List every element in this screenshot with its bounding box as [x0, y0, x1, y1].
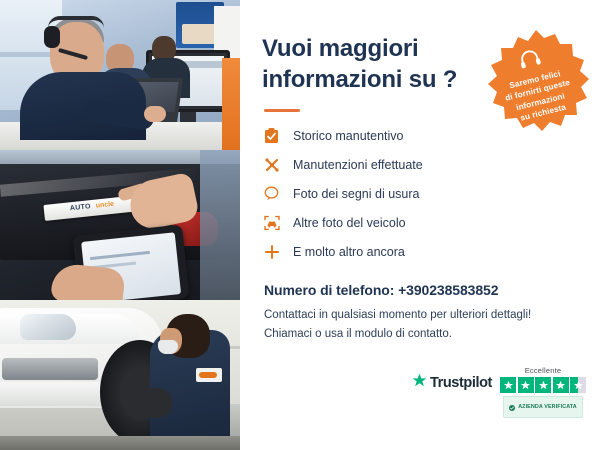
- photo-column: [0, 0, 240, 450]
- list-item: E molto altro ancora: [264, 239, 576, 264]
- star-rating: [500, 377, 586, 393]
- callout-badge: Saremo felici di fornirti queste informa…: [480, 28, 592, 140]
- tools-cross-icon: [264, 157, 286, 173]
- list-item: Foto dei segni di usura: [264, 181, 576, 206]
- verified-label: AZIENDA VERIFICATA: [518, 404, 577, 410]
- contact-line-2: Chiamaci o usa il modulo di contatto.: [264, 326, 576, 344]
- list-item: Altre foto del veicolo: [264, 210, 576, 235]
- page-title: Vuoi maggiori informazioni su ?: [262, 34, 472, 95]
- list-item: Manutenzioni effettuate: [264, 152, 576, 177]
- photo-tablet-inspection: [0, 150, 240, 300]
- photo-mechanic-lift: [0, 300, 240, 450]
- badge-text: Saremo felici di fornirti queste informa…: [501, 66, 576, 126]
- star-filled: [553, 377, 569, 393]
- headset-icon: [517, 47, 544, 75]
- list-item-label: Foto dei segni di usura: [293, 187, 419, 201]
- title-divider: [264, 109, 300, 112]
- plus-icon: [264, 244, 286, 260]
- trustpilot-star-icon: [412, 373, 427, 393]
- list-item-label: Storico manutentivo: [293, 129, 403, 143]
- star-half: [570, 377, 586, 393]
- trustpilot-logo: Trustpilot: [412, 366, 492, 393]
- clipboard-check-icon: [264, 128, 286, 144]
- star-filled: [500, 377, 516, 393]
- star-filled: [518, 377, 534, 393]
- content-panel: Vuoi maggiori informazioni su ? Storico …: [240, 0, 600, 450]
- trustpilot-rating: Eccellente: [500, 366, 586, 418]
- photo-call-center: [0, 0, 240, 150]
- list-item-label: Manutenzioni effettuate: [293, 158, 423, 172]
- speech-bubble-icon: [264, 186, 286, 201]
- verified-check-icon: [509, 398, 515, 416]
- trustpilot-name: Trustpilot: [430, 375, 492, 391]
- car-frame-photo-icon: [264, 215, 286, 231]
- star-filled: [535, 377, 551, 393]
- phone-number[interactable]: Numero di telefono: +390238583852: [264, 282, 576, 298]
- feature-list: Storico manutentivo Manutenzioni effettu…: [264, 123, 576, 264]
- list-item-label: E molto altro ancora: [293, 245, 405, 259]
- verified-badge: AZIENDA VERIFICATA: [503, 396, 583, 418]
- contact-line-1: Contattaci in qualsiasi momento per ulte…: [264, 307, 576, 325]
- list-item-label: Altre foto del veicolo: [293, 216, 406, 230]
- trustpilot-widget[interactable]: Trustpilot Eccellente: [412, 366, 586, 418]
- promo-banner: Vuoi maggiori informazioni su ? Storico …: [0, 0, 600, 450]
- rating-label: Eccellente: [525, 366, 562, 375]
